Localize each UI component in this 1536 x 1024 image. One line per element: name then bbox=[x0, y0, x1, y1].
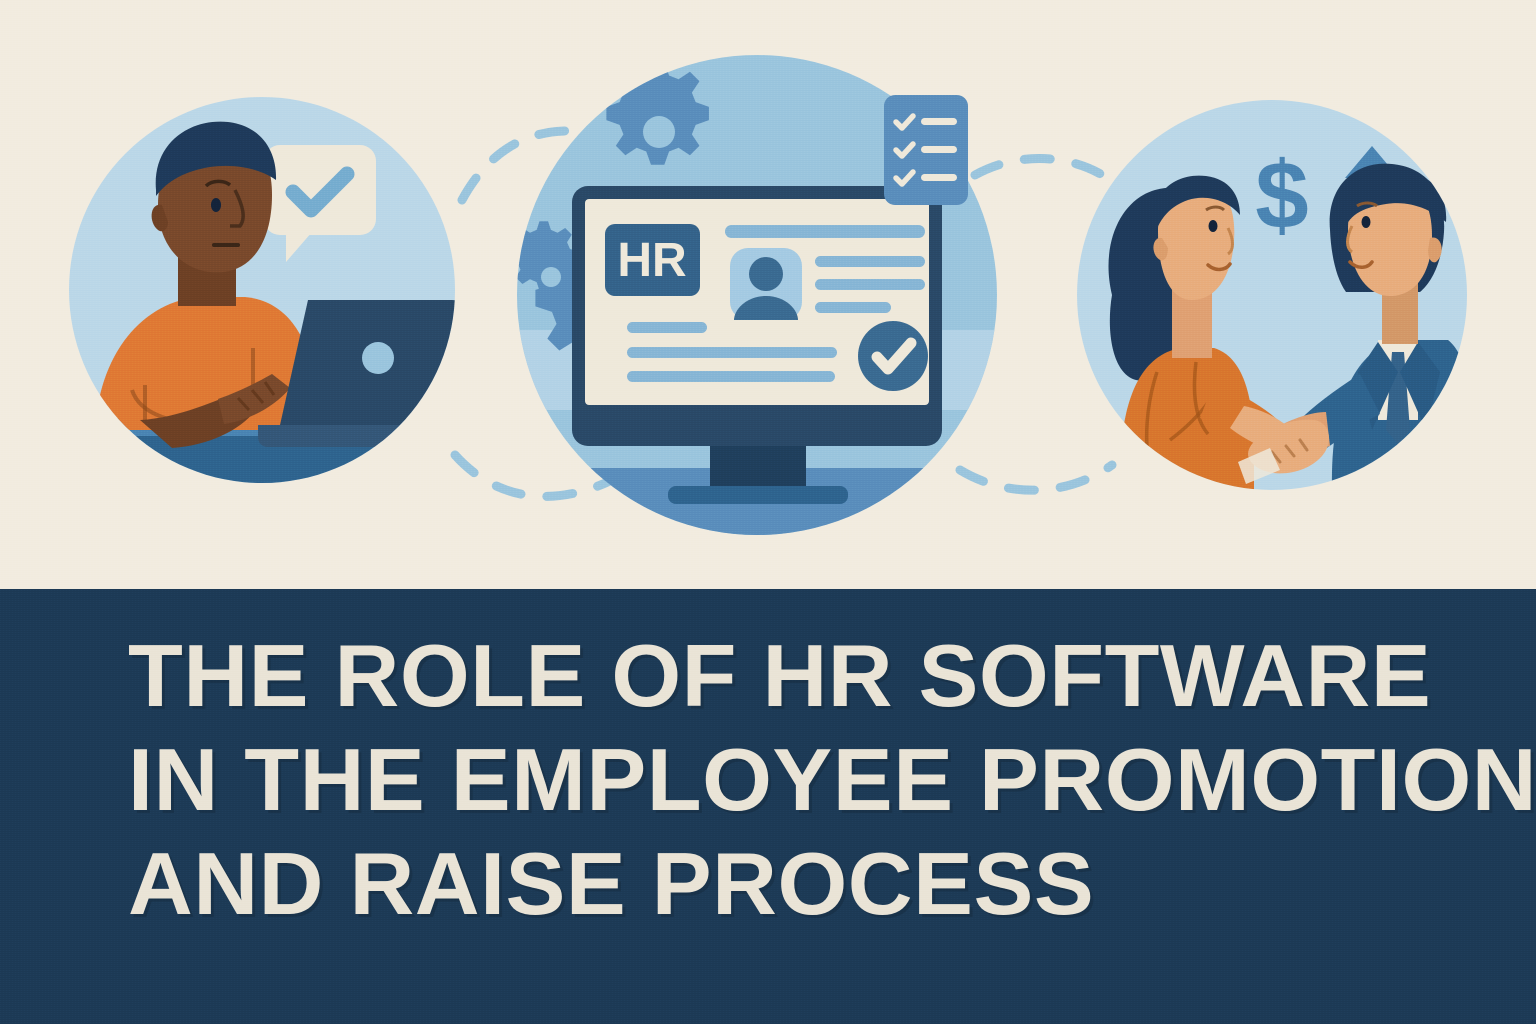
illustration-area: HR bbox=[0, 0, 1536, 589]
checklist-card bbox=[884, 95, 968, 205]
placeholder-line bbox=[725, 225, 925, 238]
avatar-icon bbox=[730, 248, 802, 320]
title-line-2: IN THE EMPLOYEE PROMOTION bbox=[128, 733, 1495, 827]
title-band: THE ROLE OF HR SOFTWARE IN THE EMPLOYEE … bbox=[0, 589, 1536, 1024]
placeholder-line bbox=[815, 279, 925, 290]
checklist-line bbox=[921, 118, 957, 125]
hr-badge-label: HR bbox=[617, 234, 686, 287]
illustration-svg: HR bbox=[0, 0, 1536, 589]
laptop-logo bbox=[362, 342, 394, 374]
dollar-sign-icon: $ bbox=[1255, 142, 1308, 249]
approved-check-badge bbox=[858, 321, 928, 391]
checklist-line bbox=[921, 146, 957, 153]
eye bbox=[211, 198, 221, 212]
page-title: THE ROLE OF HR SOFTWARE IN THE EMPLOYEE … bbox=[128, 629, 1468, 941]
checklist-line bbox=[921, 174, 957, 181]
placeholder-line bbox=[627, 347, 837, 358]
title-line-1: THE ROLE OF HR SOFTWARE bbox=[128, 629, 1495, 723]
title-line-3: AND RAISE PROCESS bbox=[128, 837, 1495, 931]
monitor-stand-neck bbox=[710, 446, 806, 492]
hr-software-banner: HR bbox=[0, 0, 1536, 1024]
placeholder-line bbox=[627, 322, 707, 333]
placeholder-line bbox=[815, 256, 925, 267]
placeholder-line bbox=[627, 371, 835, 382]
placeholder-line bbox=[815, 302, 891, 313]
eye bbox=[1362, 216, 1371, 228]
hr-badge: HR bbox=[605, 224, 700, 296]
monitor-stand-base bbox=[668, 486, 848, 504]
eye bbox=[1209, 220, 1218, 232]
